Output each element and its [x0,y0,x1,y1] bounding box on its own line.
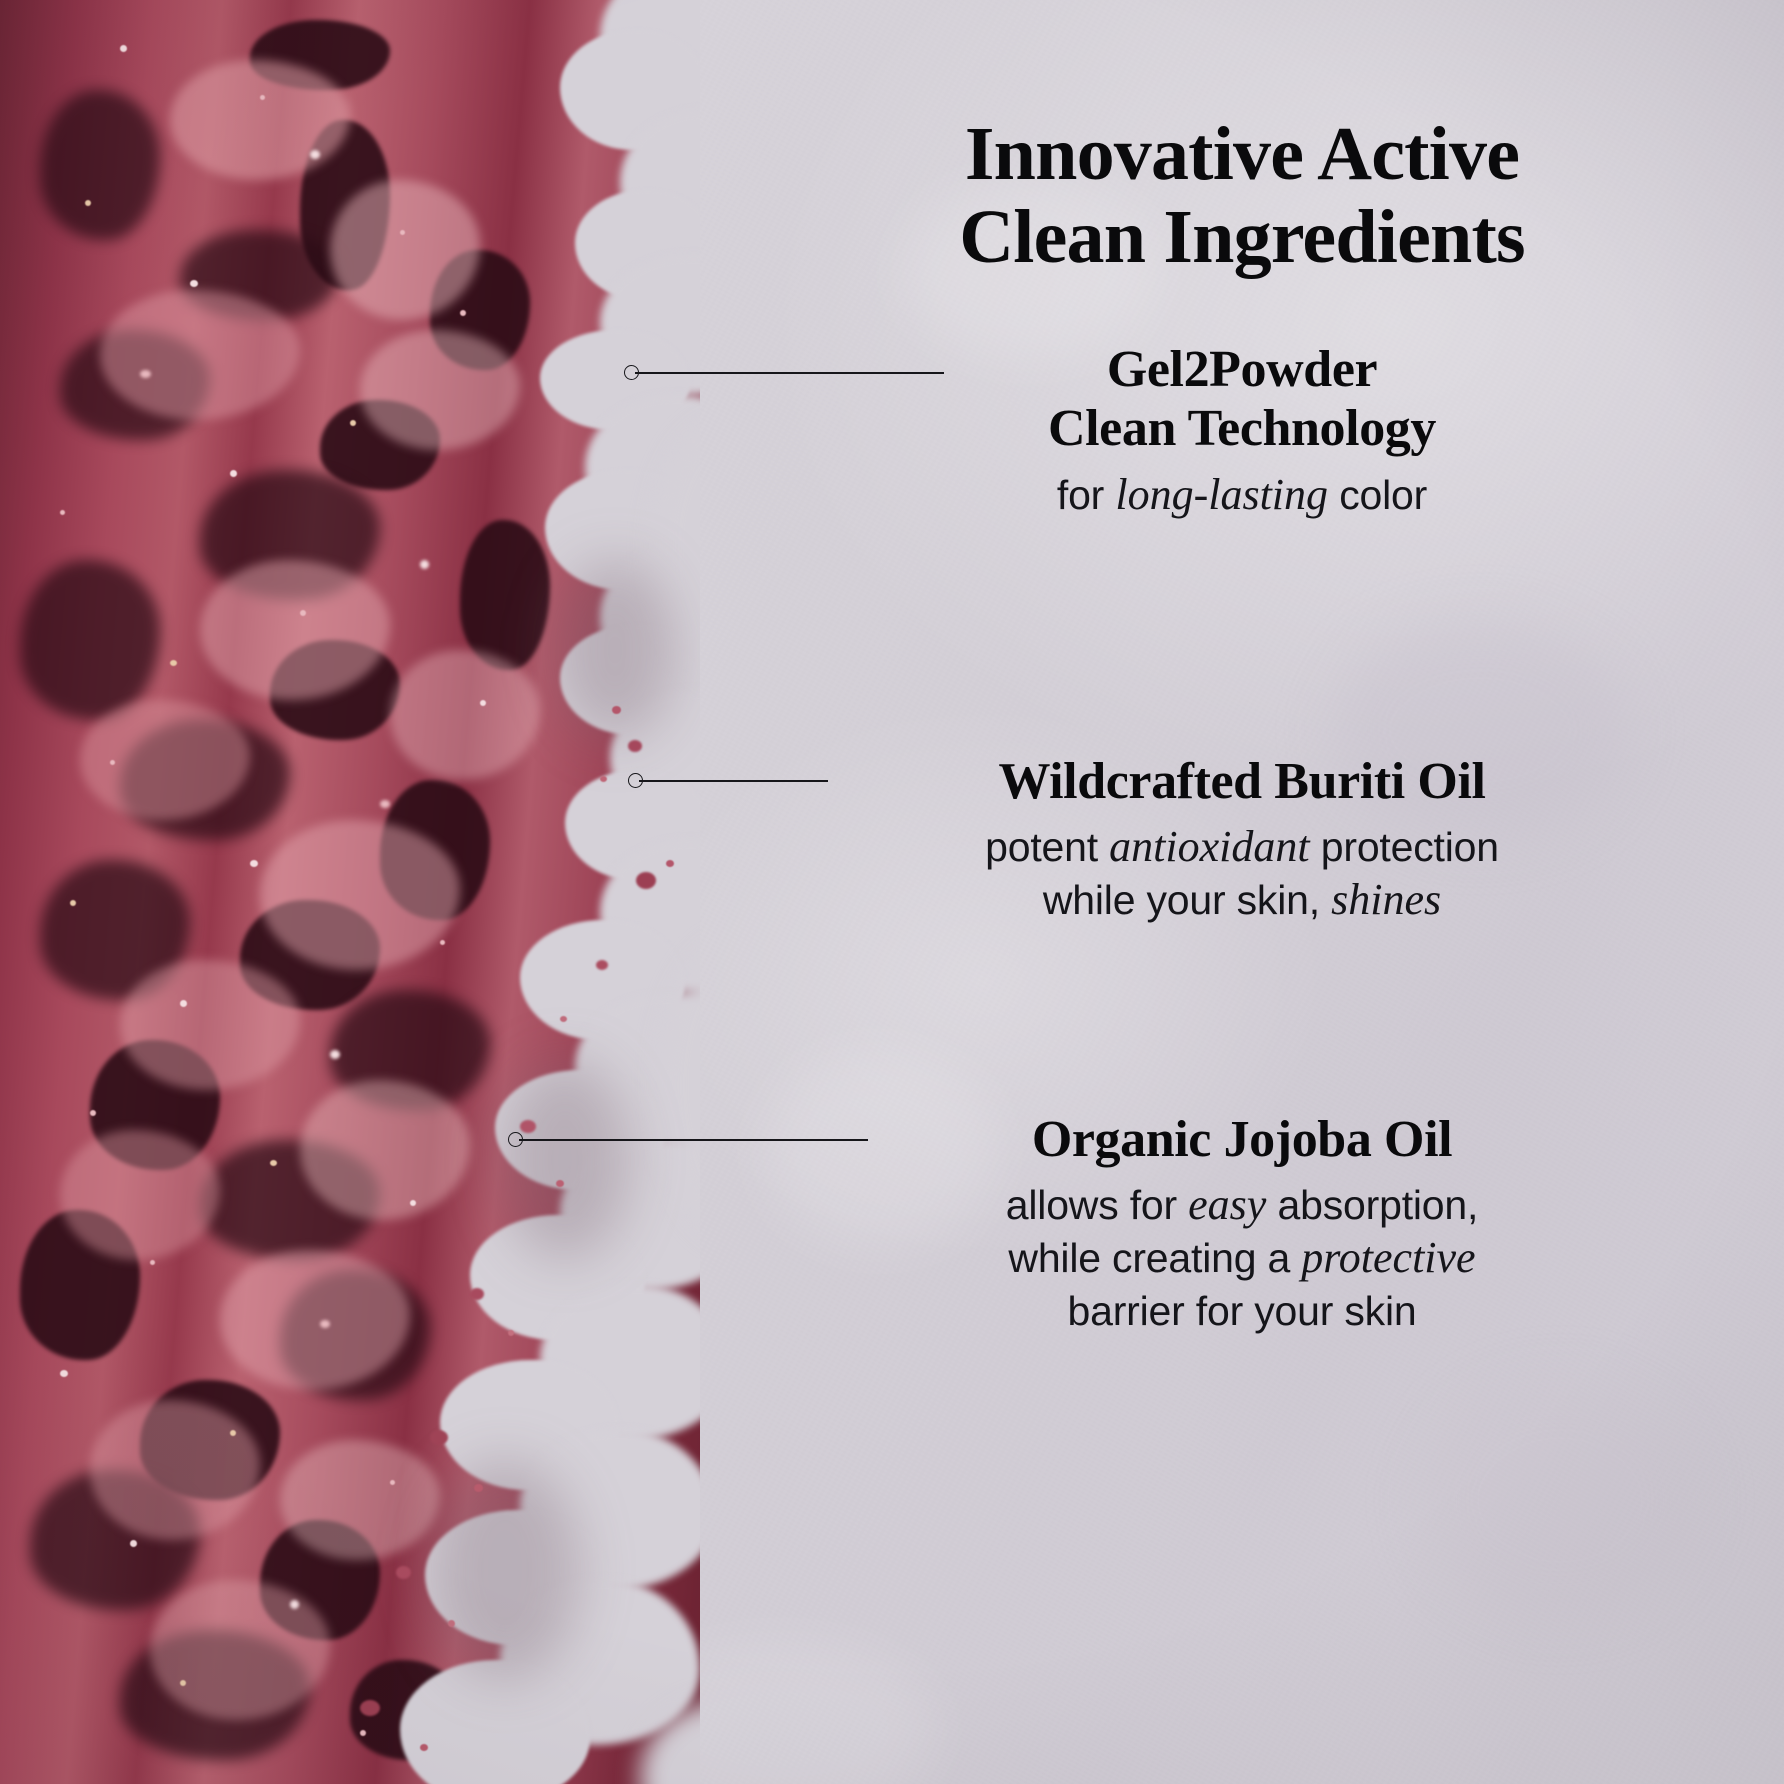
callout-body-line: potent antioxidant protection [700,821,1784,874]
infographic-canvas: Innovative Active Clean Ingredients Gel2… [0,0,1784,1784]
callout-heading-line-1: Organic Jojoba Oil [1032,1111,1452,1168]
body-text-pre: while creating a [1008,1235,1301,1281]
powder-speck [666,860,674,867]
callout-body-line: for long-lasting color [700,469,1784,522]
powder-speck [420,1744,428,1751]
headline-line-1: Innovative Active [965,112,1519,196]
callout-jojoba-oil: Organic Jojoba Oil allows for easy absor… [700,1110,1784,1338]
powder-speck [474,1484,483,1492]
body-text-emphasis: antioxidant [1109,822,1309,871]
powder-speck [600,776,607,782]
body-text-pre: barrier for your skin [1068,1288,1417,1334]
callout-body-line: while your skin, shines [700,874,1784,927]
body-text-emphasis: easy [1188,1180,1266,1229]
body-text-emphasis: shines [1331,875,1441,924]
callout-heading: Organic Jojoba Oil [700,1110,1784,1169]
body-text-emphasis: protective [1301,1233,1475,1282]
powder-speck [556,1180,564,1187]
powder-speck [360,1700,380,1716]
powder-speck [448,1620,455,1627]
powder-speck [636,872,656,889]
callout-heading-line-1: Gel2Powder [1107,341,1377,398]
content-column: Innovative Active Clean Ingredients Gel2… [700,0,1784,1784]
body-text-pre: for [1057,472,1115,518]
callout-heading-line-1: Wildcrafted Buriti Oil [998,753,1485,810]
callout-body: potent antioxidant protection while your… [700,821,1784,927]
page-title: Innovative Active Clean Ingredients [700,113,1784,279]
body-text-pre: allows for [1006,1182,1188,1228]
callout-body-line: allows for easy absorption, [700,1179,1784,1232]
powder-speck [628,740,642,752]
callout-heading-line-2: Clean Technology [700,399,1784,458]
body-text-pre: while your skin, [1043,877,1331,923]
powder-speck [560,1016,567,1022]
body-text-post: protection [1310,824,1499,870]
body-text-post: absorption, [1266,1182,1478,1228]
body-text-post: color [1328,472,1427,518]
callout-body: for long-lasting color [700,469,1784,522]
powder-speck [470,1288,484,1300]
powder-speck [508,1330,514,1336]
powder-speck [396,1566,411,1579]
powder-speck [596,960,608,970]
body-text-pre: potent [985,824,1109,870]
callout-body-line: while creating a protective [700,1232,1784,1285]
headline-line-2: Clean Ingredients [700,196,1784,279]
powder-speck [612,706,621,714]
callout-heading: Wildcrafted Buriti Oil [700,752,1784,811]
body-text-emphasis: long-lasting [1115,470,1328,519]
powder-photograph [0,0,700,1784]
callout-gel2powder: Gel2Powder Clean Technology for long-las… [700,340,1784,521]
callout-body: allows for easy absorption, while creati… [700,1179,1784,1337]
callout-body-line: barrier for your skin [700,1285,1784,1338]
callout-buriti-oil: Wildcrafted Buriti Oil potent antioxidan… [700,752,1784,927]
callout-heading: Gel2Powder Clean Technology [700,340,1784,459]
powder-speck [430,1430,448,1445]
